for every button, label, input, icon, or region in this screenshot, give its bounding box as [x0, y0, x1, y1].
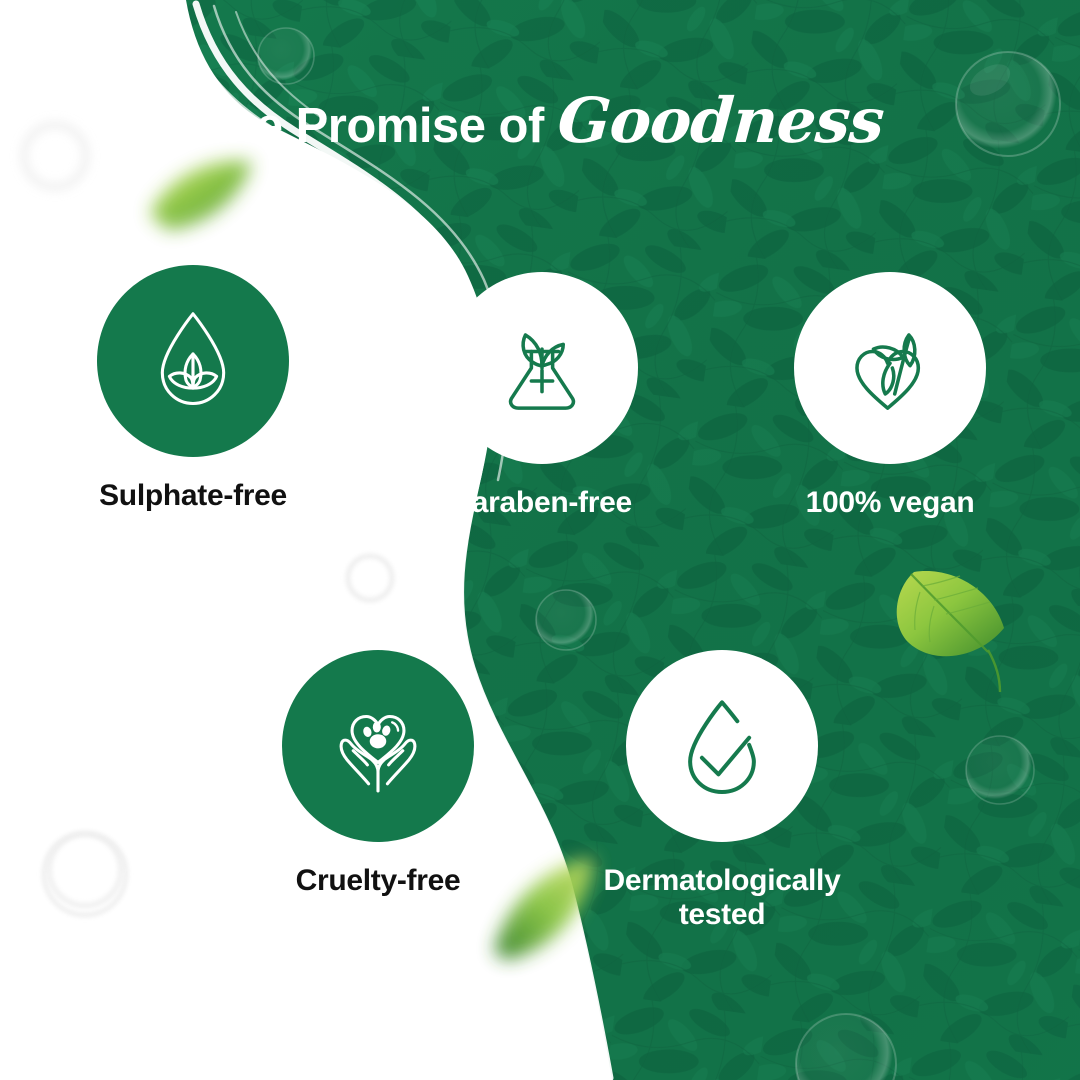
- bubble-green-top-right: [956, 52, 1060, 156]
- badge-sulphate-free[interactable]: Sulphate-free: [43, 265, 343, 513]
- badge-label: Paraben-free: [392, 486, 692, 520]
- badge-label: Sulphate-free: [43, 479, 343, 513]
- droplet-check-icon: [663, 687, 781, 805]
- badge-label: Dermatologically tested: [572, 864, 872, 931]
- water-droplet-leaf-icon: [134, 302, 252, 420]
- bubble-green-right-mid: [966, 736, 1034, 804]
- badge-circle: [794, 272, 986, 464]
- bubble-green-center: [536, 590, 596, 650]
- flask-plant-icon: [483, 309, 601, 427]
- badge-label: Cruelty-free: [228, 864, 528, 898]
- badge-circle: [97, 265, 289, 457]
- heart-leaf-icon: [831, 309, 949, 427]
- badge-circle: [446, 272, 638, 464]
- badge-paraben-free[interactable]: Paraben-free: [392, 272, 692, 520]
- bubble-left-bottom: [44, 833, 126, 915]
- badge-100-percent-vegan[interactable]: 100% vegan: [740, 272, 1040, 520]
- promise-of-goodness-infographic: The Promise ofGoodness Sulphate-free: [0, 0, 1080, 1080]
- background-art: [0, 0, 1080, 1080]
- badge-cruelty-free[interactable]: Cruelty-free: [228, 650, 528, 898]
- badge-circle: [282, 650, 474, 842]
- badge-label: 100% vegan: [740, 486, 1040, 520]
- badge-circle: [626, 650, 818, 842]
- badge-dermatologically-tested[interactable]: Dermatologically tested: [572, 650, 872, 931]
- bubble-green-small-top: [258, 28, 314, 84]
- hands-heart-paw-icon: [319, 687, 437, 805]
